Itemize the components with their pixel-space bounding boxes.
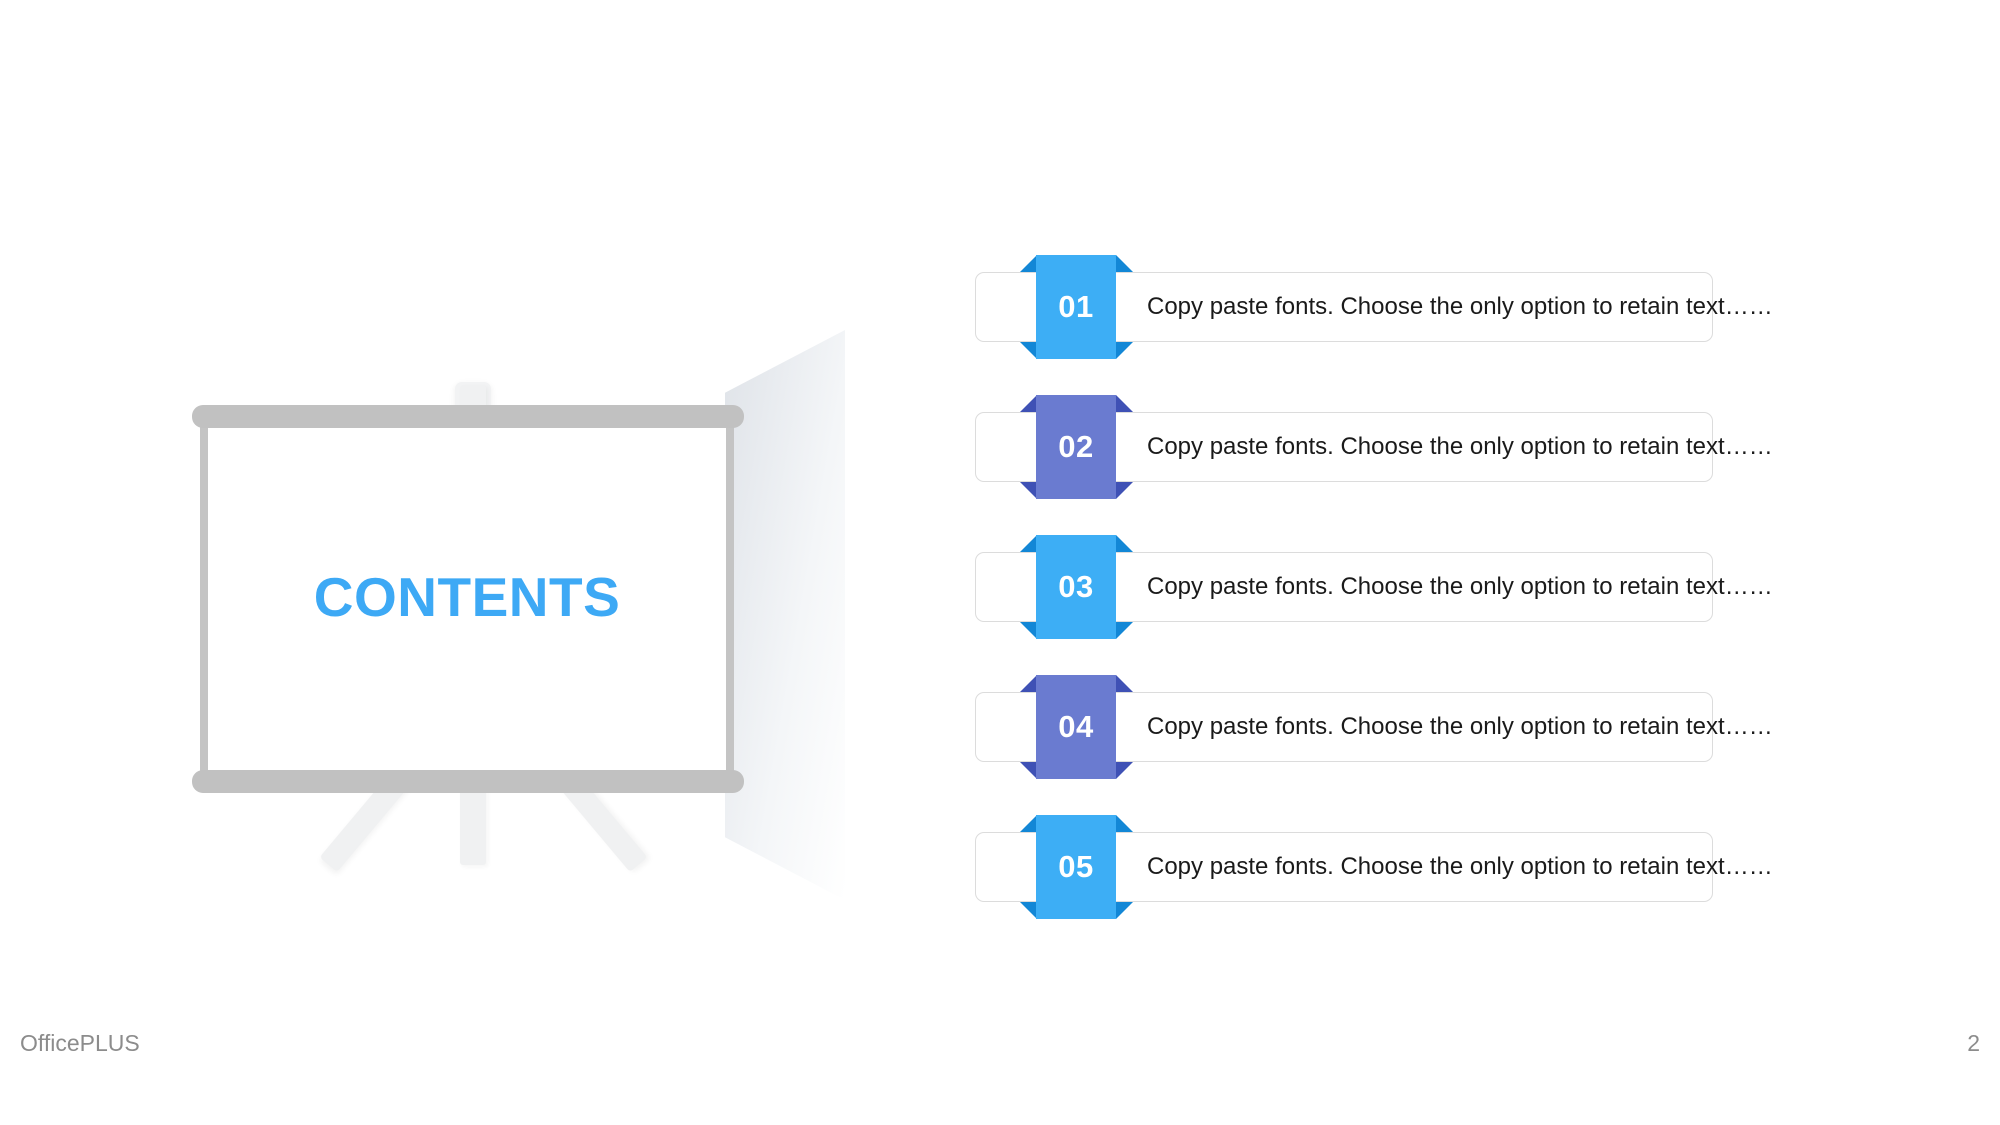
ribbon-fold-bottom-left [1020,342,1037,359]
ribbon-fold-top-left [1020,395,1037,412]
list-item-text: Copy paste fonts. Choose the only option… [1147,552,1773,622]
ribbon-fold-bottom-left [1020,622,1037,639]
ribbon-fold-bottom-right [1116,342,1133,359]
ribbon-fold-top-left [1020,535,1037,552]
page-number: 2 [1930,1030,1980,1057]
ribbon-fold-top-left [1020,815,1037,832]
ribbon-fold-top-right [1116,255,1133,272]
ribbon-fold-bottom-left [1020,902,1037,919]
list-item-number-badge: 02 [1020,395,1116,499]
ribbon-fold-top-right [1116,815,1133,832]
list-item[interactable]: 01 Copy paste fonts. Choose the only opt… [975,272,1715,344]
list-item-text: Copy paste fonts. Choose the only option… [1147,832,1773,902]
ribbon-fold-top-right [1116,675,1133,692]
projector-screen-illustration: CONTENTS [0,0,900,1125]
slide-canvas: CONTENTS 01 Copy paste fonts. Choose the… [0,0,2000,1125]
list-item[interactable]: 04 Copy paste fonts. Choose the only opt… [975,692,1715,764]
screen-title: CONTENTS [202,565,732,629]
list-item-number: 02 [1036,395,1116,499]
list-item[interactable]: 02 Copy paste fonts. Choose the only opt… [975,412,1715,484]
ribbon-fold-bottom-right [1116,622,1133,639]
list-item-number: 04 [1036,675,1116,779]
ribbon-fold-top-left [1020,255,1037,272]
screen-bar-top [192,405,744,428]
ribbon-fold-bottom-left [1020,482,1037,499]
ribbon-fold-bottom-right [1116,482,1133,499]
list-item[interactable]: 05 Copy paste fonts. Choose the only opt… [975,832,1715,904]
list-item-number-badge: 01 [1020,255,1116,359]
ribbon-fold-bottom-right [1116,762,1133,779]
list-item-number: 01 [1036,255,1116,359]
list-item-number-badge: 04 [1020,675,1116,779]
contents-list: 01 Copy paste fonts. Choose the only opt… [975,272,1715,904]
list-item-number-badge: 03 [1020,535,1116,639]
ribbon-fold-top-right [1116,395,1133,412]
ribbon-fold-top-right [1116,535,1133,552]
ribbon-fold-bottom-right [1116,902,1133,919]
list-item-text: Copy paste fonts. Choose the only option… [1147,692,1773,762]
list-item-text: Copy paste fonts. Choose the only option… [1147,272,1773,342]
list-item-number: 05 [1036,815,1116,919]
ribbon-fold-bottom-left [1020,762,1037,779]
footer-brand: OfficePLUS [20,1030,140,1057]
list-item[interactable]: 03 Copy paste fonts. Choose the only opt… [975,552,1715,624]
screen-bar-bottom [192,770,744,793]
list-item-number-badge: 05 [1020,815,1116,919]
list-item-number: 03 [1036,535,1116,639]
ribbon-fold-top-left [1020,675,1037,692]
list-item-text: Copy paste fonts. Choose the only option… [1147,412,1773,482]
